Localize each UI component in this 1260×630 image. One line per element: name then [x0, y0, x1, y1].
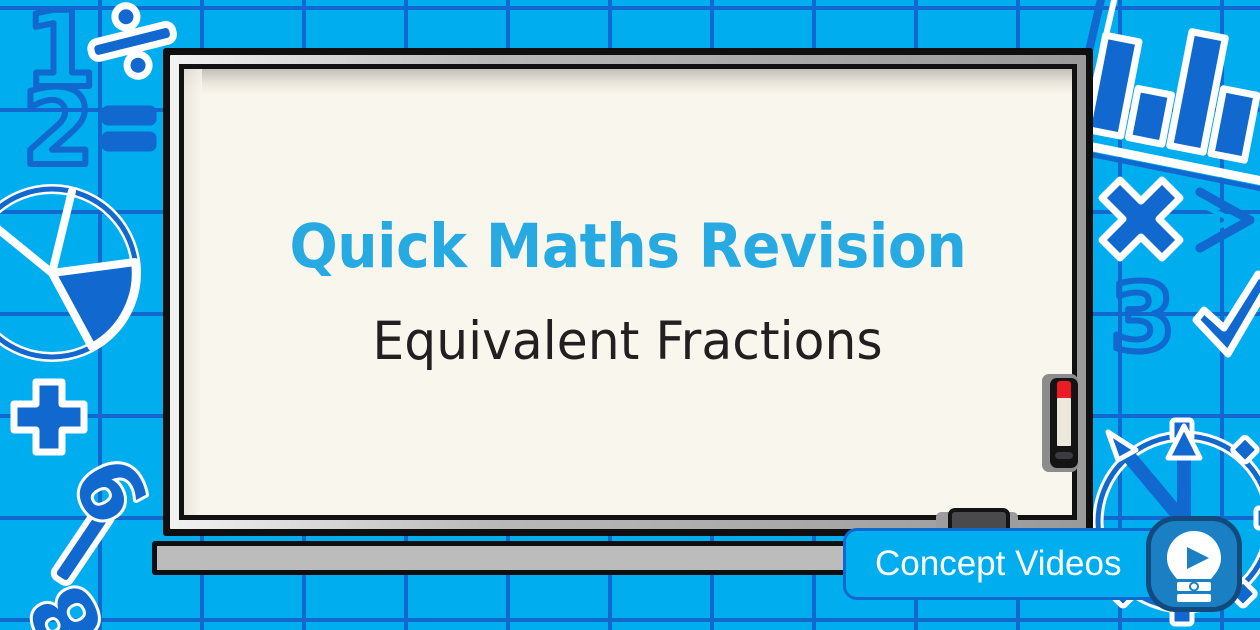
board-sheen-top [184, 69, 1072, 95]
concept-videos-badge[interactable]: Concept Videos [843, 528, 1175, 600]
page-subtitle: Equivalent Fractions [373, 315, 883, 368]
lightbulb-play-logo[interactable] [1146, 516, 1242, 612]
whiteboard: Quick Maths Revision Equivalent Fraction… [163, 48, 1093, 536]
whiteboard-frame: Quick Maths Revision Equivalent Fraction… [170, 55, 1086, 529]
marker-cap [1055, 452, 1073, 459]
thumbnail-canvas: 1 2 [0, 0, 1260, 630]
marker-tip [1057, 381, 1071, 398]
whiteboard-ledge [152, 541, 864, 575]
concept-videos-label: Concept Videos [875, 544, 1121, 584]
page-title: Quick Maths Revision [290, 216, 967, 277]
whiteboard-surface: Quick Maths Revision Equivalent Fraction… [179, 64, 1077, 520]
marker-label [1057, 398, 1071, 446]
board-sheen-left [184, 69, 202, 515]
